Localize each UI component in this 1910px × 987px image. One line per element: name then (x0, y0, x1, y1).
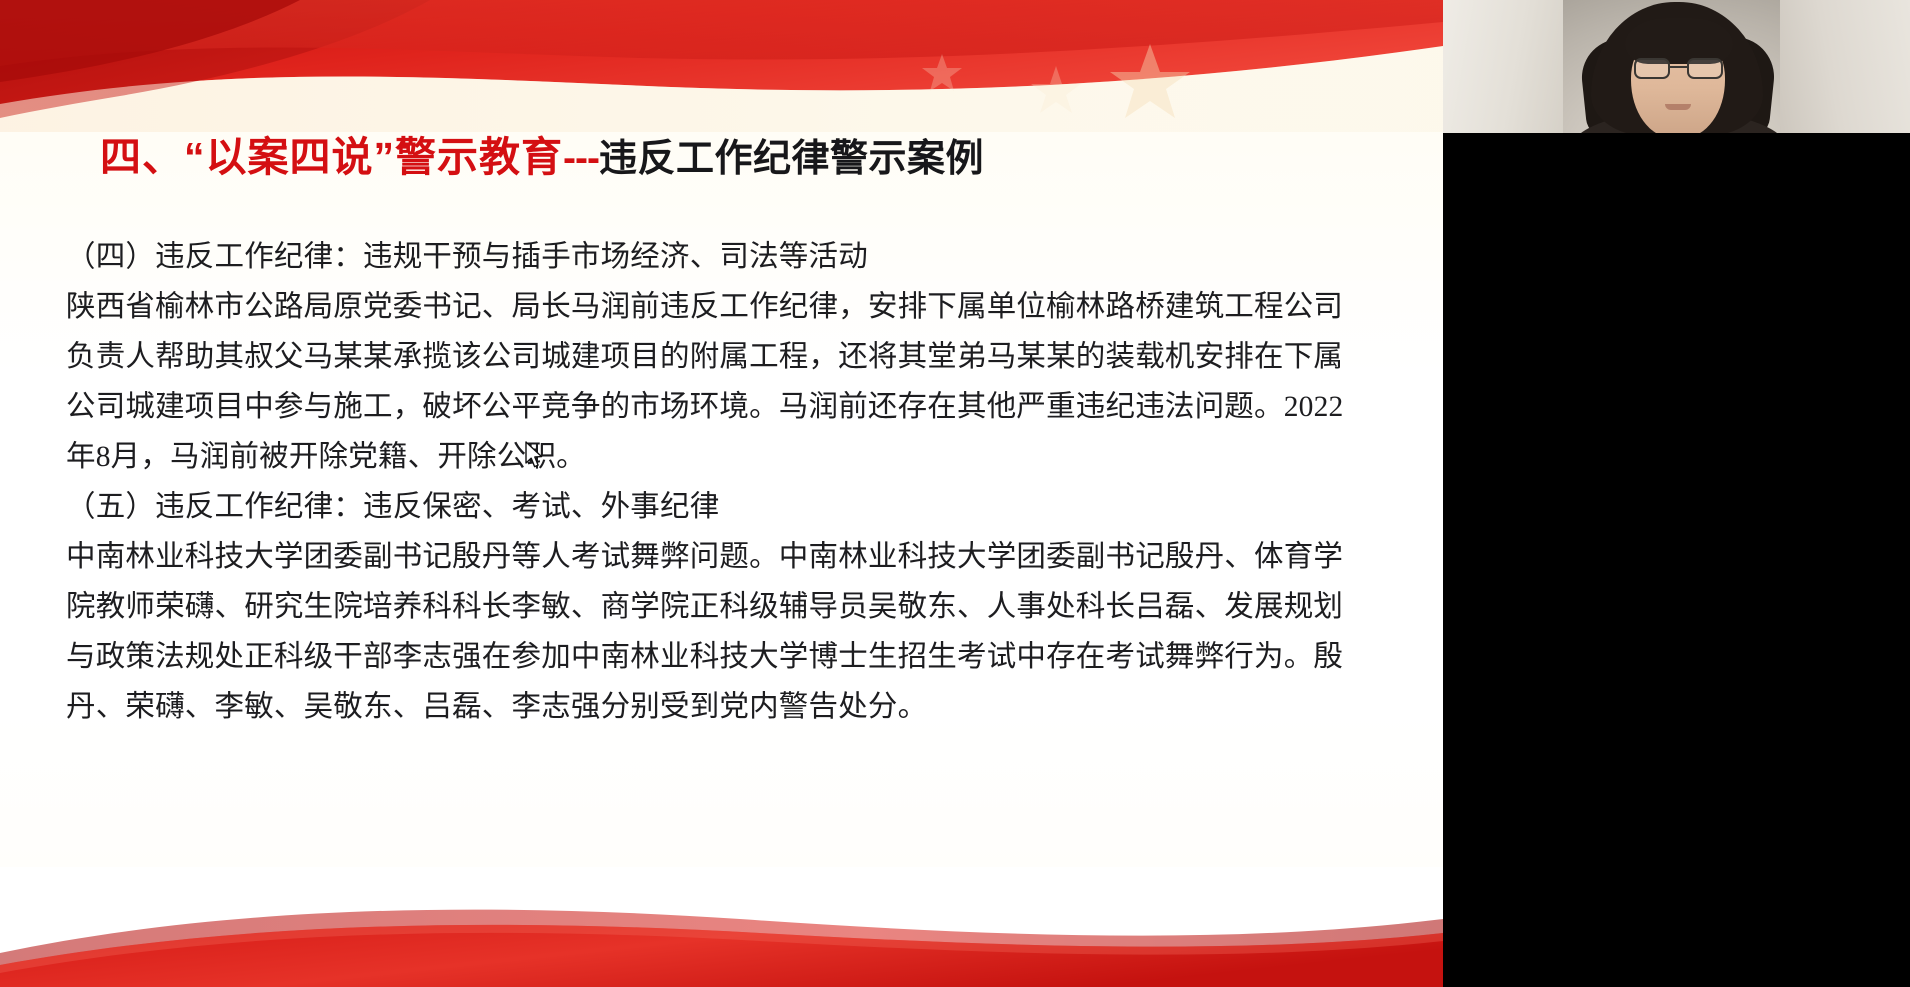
participant-panel (1443, 0, 1910, 987)
glasses-lens-right (1687, 58, 1723, 79)
body-line: 年8月，马润前被开除党籍、开除公职。 (66, 432, 1386, 482)
body-line: 丹、荣礴、李敏、吴敬东、吕磊、李志强分别受到党内警告处分。 (66, 682, 1386, 732)
panel-empty-area (1443, 133, 1910, 987)
title-black-part: 违反工作纪律警示案例 (599, 138, 984, 180)
page-title: 四、“以案四说”警示教育---违反工作纪律警示案例 (100, 131, 1420, 189)
body-line: 陕西省榆林市公路局原党委书记、局长马润前违反工作纪律，安排下属单位榆林路桥建筑工… (66, 282, 1386, 332)
bottom-ribbon-decoration (0, 867, 1443, 987)
body-line: 负责人帮助其叔父马某某承揽该公司城建项目的附属工程，还将其堂弟马某某的装载机安排… (66, 332, 1386, 382)
webcam-video-tile[interactable] (1443, 0, 1910, 133)
body-line: 中南林业科技大学团委副书记殷丹等人考试舞弊问题。中南林业科技大学团委副书记殷丹、… (66, 532, 1386, 582)
body-line: 院教师荣礴、研究生院培养科科长李敏、商学院正科级辅导员吴敬东、人事处科长吕磊、发… (66, 582, 1386, 632)
body-line: 公司城建项目中参与施工，破坏公平竞争的市场环境。马润前还存在其他严重违纪违法问题… (66, 382, 1386, 432)
glasses-bridge (1670, 66, 1687, 68)
body-line: 与政策法规处正科级干部李志强在参加中南林业科技大学博士生招生考试中存在考试舞弊行… (66, 632, 1386, 682)
screen-share-view: 四、“以案四说”警示教育---违反工作纪律警示案例 （四）违反工作纪律：违规干预… (0, 0, 1910, 987)
title-dash: --- (563, 137, 599, 180)
slide-body-text: （四）违反工作纪律：违规干预与插手市场经济、司法等活动 陕西省榆林市公路局原党委… (66, 232, 1386, 732)
avatar-mouth (1665, 104, 1691, 110)
glasses-lens-left (1634, 58, 1670, 79)
body-line: （五）违反工作纪律：违反保密、考试、外事纪律 (66, 482, 1386, 532)
webcam-wall-right (1780, 0, 1910, 133)
title-red-part: 四、“以案四说”警示教育 (100, 134, 563, 180)
glasses-icon (1632, 58, 1725, 80)
body-line: （四）违反工作纪律：违规干预与插手市场经济、司法等活动 (66, 232, 1386, 282)
presentation-slide: 四、“以案四说”警示教育---违反工作纪律警示案例 （四）违反工作纪律：违规干预… (0, 0, 1443, 987)
top-ribbon-decoration (0, 0, 1443, 132)
webcam-wall-left (1443, 0, 1563, 133)
